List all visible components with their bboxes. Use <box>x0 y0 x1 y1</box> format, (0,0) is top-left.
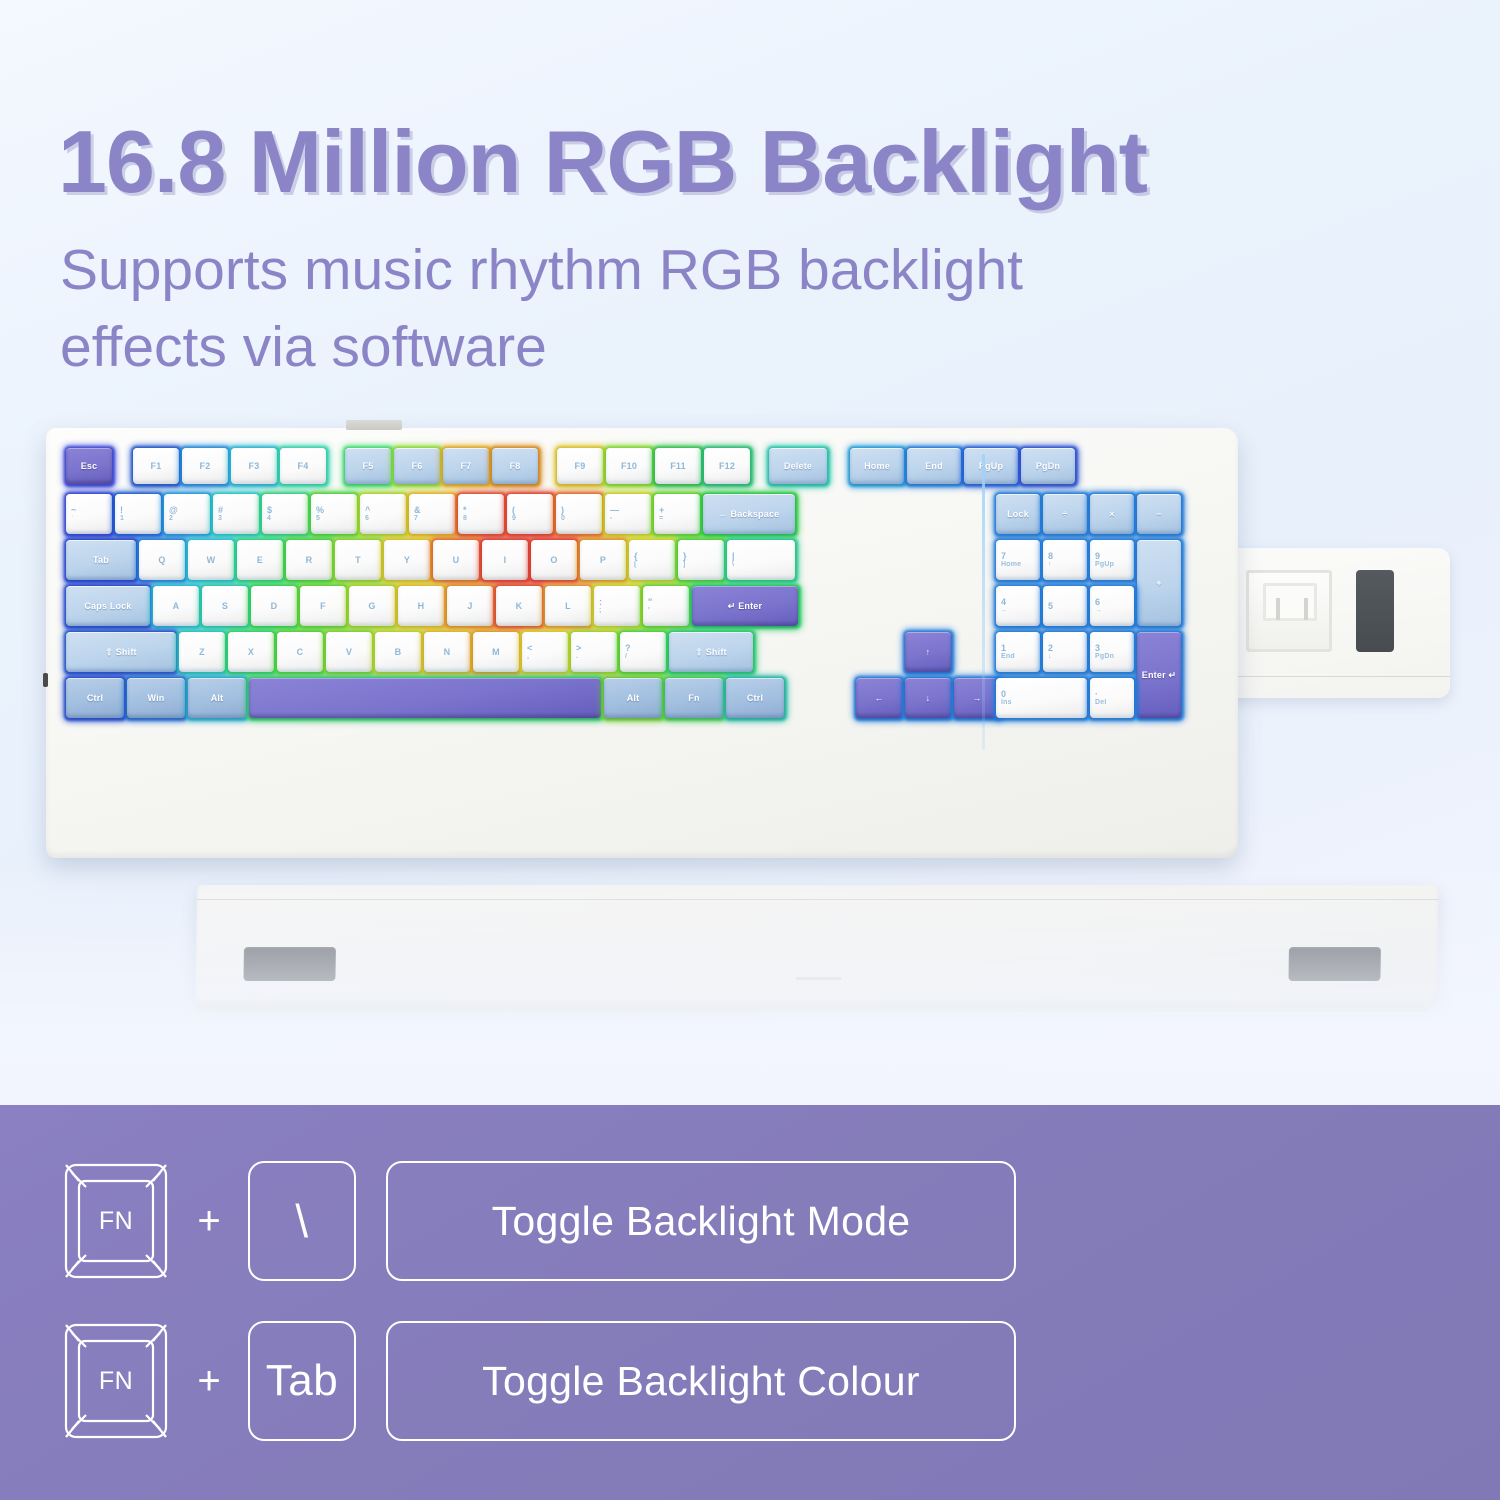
fn-keycap-icon-2: FN <box>62 1321 170 1441</box>
key-numpad-multiply[interactable]: × <box>1090 494 1134 534</box>
key-legend: I <box>504 555 507 565</box>
key-number-row-7[interactable]: &7 <box>409 494 455 534</box>
key-legend-top: } <box>683 551 687 561</box>
key-fn-row-8[interactable]: F8 <box>492 448 538 484</box>
key-legend: ← <box>874 693 883 703</box>
key-fn-row-0[interactable]: Esc <box>66 448 112 484</box>
key-legend-top: 7 <box>1001 551 1006 561</box>
key-bottom-row-2[interactable]: Alt <box>188 678 246 718</box>
key-fn-row-3[interactable]: F3 <box>231 448 277 484</box>
key-legend-top: 0 <box>1001 689 1006 699</box>
keyboard-light-strip <box>982 454 985 750</box>
key-legend-top: 5 <box>1048 601 1053 611</box>
key-home-row-2[interactable]: S <box>202 586 248 626</box>
key-qwerty-row-1[interactable]: Q <box>139 540 185 580</box>
key-qwerty-row-10[interactable]: P <box>580 540 626 580</box>
key-number-row-12[interactable]: += <box>654 494 700 534</box>
key-legend: F1 <box>151 461 162 471</box>
keycap-puller-inner <box>1263 583 1317 621</box>
key-arrow-down[interactable]: ↓ <box>905 678 951 718</box>
wrist-rest-foot-right <box>1288 947 1381 981</box>
keycap-puller-icon <box>1246 570 1332 652</box>
key-legend-bottom: 6 <box>365 515 369 523</box>
key-fn-row-15[interactable]: End <box>907 448 961 484</box>
key-legend-bottom: 3 <box>218 515 222 523</box>
key-shift-row-9[interactable]: >. <box>571 632 617 672</box>
key-home-row-12[interactable]: ↵ Enter <box>692 586 798 626</box>
key-legend: M <box>492 647 500 657</box>
key-legend-bottom: 9 <box>512 515 516 523</box>
accessory-rubber-pad <box>1356 570 1394 652</box>
fn-keycap-icon: FN <box>62 1161 170 1281</box>
fn-key-label-2: FN <box>62 1321 170 1441</box>
key-legend: E <box>257 555 263 565</box>
key-number-row-8[interactable]: *8 <box>458 494 504 534</box>
key-legend: Delete <box>784 461 812 471</box>
key-home-row-6[interactable]: H <box>398 586 444 626</box>
key-legend-bottom: Home <box>1001 561 1021 569</box>
key-home-row-1[interactable]: A <box>153 586 199 626</box>
key-number-row-3[interactable]: #3 <box>213 494 259 534</box>
key-legend-bottom: 7 <box>414 515 418 523</box>
key-legend: ↓ <box>926 693 931 703</box>
keyboard-side-port <box>43 673 48 687</box>
key-fn-row-11[interactable]: F11 <box>655 448 701 484</box>
key-home-row-7[interactable]: J <box>447 586 493 626</box>
key-legend-bottom: 0 <box>561 515 565 523</box>
key-numpad-9[interactable]: 9PgUp <box>1090 540 1134 580</box>
key-number-row-6[interactable]: ^6 <box>360 494 406 534</box>
key-legend-top: ! <box>120 505 123 515</box>
key-legend-bottom: Del <box>1095 699 1107 707</box>
key-number-row-13[interactable]: ← Backspace <box>703 494 795 534</box>
key-legend: ÷ <box>1062 509 1067 519</box>
key-legend: R <box>306 555 313 565</box>
key-legend-bottom: / <box>625 653 627 661</box>
key-numpad-5[interactable]: 5 <box>1043 586 1087 626</box>
key-legend: ↵ Enter <box>728 601 762 611</box>
wrist-rest <box>195 885 1439 1005</box>
key-legend-bottom: \ <box>732 561 734 569</box>
key-shift-row-11[interactable]: ⇧ Shift <box>669 632 753 672</box>
key-numpad-enter[interactable]: Enter ↵ <box>1137 632 1181 718</box>
key-arrow-left[interactable]: ← <box>856 678 902 718</box>
key-legend: F <box>320 601 326 611</box>
key-legend-top: ? <box>625 643 631 653</box>
wrist-rest-marking <box>795 977 841 980</box>
key-shift-row-5[interactable]: B <box>375 632 421 672</box>
key-legend-bottom: PgUp <box>1095 561 1114 569</box>
key-legend: H <box>418 601 425 611</box>
key-bottom-row-5[interactable]: Fn <box>665 678 723 718</box>
key-legend: Enter ↵ <box>1142 670 1176 680</box>
key-legend-bottom: 2 <box>169 515 173 523</box>
key-legend-top: # <box>218 505 223 515</box>
key-qwerty-row-6[interactable]: Y <box>384 540 430 580</box>
wrist-rest-foot-left <box>243 947 336 981</box>
shortcut-panel: FN + \ Toggle Backlight Mode FN + Tab To… <box>0 1105 1500 1500</box>
key-number-row-10[interactable]: )0 <box>556 494 602 534</box>
key-legend: F8 <box>510 461 521 471</box>
key-legend-bottom: 4 <box>267 515 271 523</box>
key-legend: Caps Lock <box>84 601 131 611</box>
key-home-row-0[interactable]: Caps Lock <box>66 586 150 626</box>
plus-sign-2: + <box>170 1359 248 1404</box>
key-legend: A <box>173 601 180 611</box>
key-legend: J <box>467 601 472 611</box>
keyboard-body: EscF1F2F3F4F5F6F7F8F9F10F11F12DeleteHome… <box>46 428 1238 858</box>
key-home-row-4[interactable]: F <box>300 586 346 626</box>
key-legend-top: 6 <box>1095 597 1100 607</box>
target-key-backslash: \ <box>248 1161 356 1281</box>
key-legend-bottom: 1 <box>120 515 124 523</box>
puller-prong-right <box>1304 598 1308 620</box>
key-legend: L <box>565 601 571 611</box>
key-arrow-up[interactable]: ↑ <box>905 632 951 672</box>
key-legend: F11 <box>670 461 686 471</box>
key-number-row-2[interactable]: @2 <box>164 494 210 534</box>
puller-prong-left <box>1276 598 1280 620</box>
key-legend: F7 <box>461 461 472 471</box>
key-home-row-10[interactable]: :; <box>594 586 640 626</box>
hero-section: 16.8 Million RGB Backlight Supports musi… <box>0 0 1500 1105</box>
target-key-tab: Tab <box>248 1321 356 1441</box>
key-legend: Home <box>864 461 890 471</box>
key-bottom-row-4[interactable]: Alt <box>604 678 662 718</box>
key-numpad-7[interactable]: 7Home <box>996 540 1040 580</box>
key-legend: ⇧ Shift <box>695 647 726 657</box>
key-legend: V <box>346 647 352 657</box>
key-legend: F3 <box>249 461 260 471</box>
key-number-row-5[interactable]: %5 <box>311 494 357 534</box>
key-number-row-0[interactable]: ~` <box>66 494 112 534</box>
key-legend-top: < <box>527 643 532 653</box>
key-fn-row-14[interactable]: Home <box>850 448 904 484</box>
key-shift-row-6[interactable]: N <box>424 632 470 672</box>
key-legend: End <box>925 461 943 471</box>
key-number-row-1[interactable]: !1 <box>115 494 161 534</box>
key-legend: Lock <box>1007 509 1029 519</box>
key-legend: F4 <box>298 461 309 471</box>
key-legend-bottom: ← <box>1001 607 1008 615</box>
key-legend-bottom: ↑ <box>1048 561 1052 569</box>
key-qwerty-row-2[interactable]: W <box>188 540 234 580</box>
key-fn-row-1[interactable]: F1 <box>133 448 179 484</box>
key-legend-bottom: ` <box>71 515 74 523</box>
key-numpad-8[interactable]: 8↑ <box>1043 540 1087 580</box>
key-numpad-3[interactable]: 3PgDn <box>1090 632 1134 672</box>
key-legend-top: 3 <box>1095 643 1100 653</box>
key-shift-row-1[interactable]: Z <box>179 632 225 672</box>
key-fn-row-10[interactable]: F10 <box>606 448 652 484</box>
key-numpad-minus[interactable]: − <box>1137 494 1181 534</box>
key-legend: F9 <box>575 461 586 471</box>
key-legend-bottom: 5 <box>316 515 320 523</box>
key-qwerty-row-12[interactable]: }] <box>678 540 724 580</box>
key-legend: − <box>1156 509 1161 519</box>
key-fn-row-17[interactable]: PgDn <box>1021 448 1075 484</box>
key-legend: ⇧ Shift <box>105 647 136 657</box>
fn-key-label: FN <box>62 1161 170 1281</box>
key-legend-top: & <box>414 505 421 515</box>
key-fn-row-5[interactable]: F5 <box>345 448 391 484</box>
key-legend: W <box>207 555 216 565</box>
wrist-rest-seam <box>197 899 1439 900</box>
key-legend: PgDn <box>1036 461 1060 471</box>
key-legend: D <box>271 601 278 611</box>
key-legend-top: · <box>1095 689 1098 699</box>
key-numpad-4[interactable]: 4← <box>996 586 1040 626</box>
key-bottom-row-6[interactable]: Ctrl <box>726 678 784 718</box>
key-legend: C <box>297 647 304 657</box>
key-legend: Fn <box>688 693 699 703</box>
key-legend-bottom: = <box>659 515 663 523</box>
key-legend: → <box>972 693 981 703</box>
key-legend-bottom: , <box>527 653 529 661</box>
key-legend: Y <box>404 555 410 565</box>
accessory-tray-seam <box>1228 676 1450 677</box>
key-fn-row-12[interactable]: F12 <box>704 448 750 484</box>
key-legend-top: ^ <box>365 505 370 515</box>
key-legend: ↑ <box>926 647 931 657</box>
key-numpad-lock[interactable]: Lock <box>996 494 1040 534</box>
shortcut-row-backlight-mode: FN + \ Toggle Backlight Mode <box>62 1167 1016 1275</box>
key-legend: X <box>248 647 254 657</box>
key-legend: + <box>1156 578 1161 588</box>
key-qwerty-row-7[interactable]: U <box>433 540 479 580</box>
key-legend: T <box>355 555 361 565</box>
key-legend: Alt <box>211 693 224 703</box>
key-fn-row-16[interactable]: PgUp <box>964 448 1018 484</box>
key-legend: F12 <box>719 461 735 471</box>
key-legend: S <box>222 601 228 611</box>
key-home-row-11[interactable]: "' <box>643 586 689 626</box>
key-fn-row-9[interactable]: F9 <box>557 448 603 484</box>
key-legend-top: 1 <box>1001 643 1006 653</box>
key-legend-top: 9 <box>1095 551 1100 561</box>
key-shift-row-4[interactable]: V <box>326 632 372 672</box>
key-legend-top: @ <box>169 505 178 515</box>
plus-sign-1: + <box>170 1199 248 1244</box>
key-fn-row-13[interactable]: Delete <box>769 448 827 484</box>
key-shift-row-2[interactable]: X <box>228 632 274 672</box>
key-legend-top: { <box>634 551 638 561</box>
key-legend: Z <box>199 647 205 657</box>
key-legend: F2 <box>200 461 211 471</box>
key-legend-bottom: End <box>1001 653 1015 661</box>
key-legend: U <box>453 555 460 565</box>
key-legend-bottom: - <box>610 515 613 523</box>
key-legend: B <box>395 647 402 657</box>
key-legend-top: — <box>610 505 619 515</box>
key-legend-top: $ <box>267 505 272 515</box>
shortcut-row-backlight-colour: FN + Tab Toggle Backlight Colour <box>62 1327 1016 1435</box>
key-legend: O <box>550 555 557 565</box>
shortcut-description-backlight-colour: Toggle Backlight Colour <box>386 1321 1016 1441</box>
key-legend: Ctrl <box>87 693 103 703</box>
key-legend: P <box>600 555 606 565</box>
key-shift-row-10[interactable]: ?/ <box>620 632 666 672</box>
key-fn-row-4[interactable]: F4 <box>280 448 326 484</box>
key-legend: Win <box>147 693 164 703</box>
key-numpad-2[interactable]: 2↓ <box>1043 632 1087 672</box>
key-legend-bottom: 8 <box>463 515 467 523</box>
key-legend-top: > <box>576 643 581 653</box>
key-number-row-11[interactable]: —- <box>605 494 651 534</box>
key-legend-bottom: ↓ <box>1048 653 1052 661</box>
keyboard-key-plate: EscF1F2F3F4F5F6F7F8F9F10F11F12DeleteHome… <box>66 448 1216 838</box>
key-legend-top: : <box>599 597 602 607</box>
key-legend-bottom: . <box>576 653 578 661</box>
key-qwerty-row-9[interactable]: O <box>531 540 577 580</box>
key-legend-top: | <box>732 551 735 561</box>
key-shift-row-0[interactable]: ⇧ Shift <box>66 632 176 672</box>
key-numpad-0[interactable]: 0Ins <box>996 678 1087 718</box>
key-legend-bottom: ; <box>599 607 602 615</box>
key-legend-top: 8 <box>1048 551 1053 561</box>
key-shift-row-8[interactable]: <, <box>522 632 568 672</box>
key-home-row-3[interactable]: D <box>251 586 297 626</box>
page-title: 16.8 Million RGB Backlight <box>58 118 1458 206</box>
key-legend: Ctrl <box>747 693 763 703</box>
key-bottom-row-0[interactable]: Ctrl <box>66 678 124 718</box>
key-qwerty-row-4[interactable]: R <box>286 540 332 580</box>
key-numpad-divide[interactable]: ÷ <box>1043 494 1087 534</box>
key-legend-top: ~ <box>71 505 76 515</box>
key-qwerty-row-11[interactable]: {[ <box>629 540 675 580</box>
key-legend: × <box>1109 509 1114 519</box>
key-legend: N <box>444 647 451 657</box>
key-legend-top: 2 <box>1048 643 1053 653</box>
key-qwerty-row-5[interactable]: T <box>335 540 381 580</box>
key-legend: F5 <box>363 461 374 471</box>
key-legend-bottom: Ins <box>1001 699 1012 707</box>
subtitle-line-1: Supports music rhythm RGB backlight <box>60 232 1320 309</box>
shortcut-description-backlight-mode: Toggle Backlight Mode <box>386 1161 1016 1281</box>
key-legend-top: " <box>648 597 652 607</box>
key-legend-bottom: ' <box>648 607 650 615</box>
key-legend-top: 4 <box>1001 597 1006 607</box>
key-qwerty-row-3[interactable]: E <box>237 540 283 580</box>
key-numpad-decimal[interactable]: ·Del <box>1090 678 1134 718</box>
key-legend: Tab <box>93 555 109 565</box>
key-fn-row-2[interactable]: F2 <box>182 448 228 484</box>
accessory-tray <box>1228 548 1450 698</box>
key-shift-row-3[interactable]: C <box>277 632 323 672</box>
key-bottom-row-1[interactable]: Win <box>127 678 185 718</box>
key-legend: F6 <box>412 461 423 471</box>
key-number-row-9[interactable]: (9 <box>507 494 553 534</box>
key-legend-top: + <box>659 505 664 515</box>
key-legend: ← Backspace <box>719 509 780 519</box>
key-home-row-8[interactable]: K <box>496 586 542 626</box>
keyboard-top-connector <box>346 420 402 430</box>
key-legend: Esc <box>81 461 98 471</box>
key-legend-bottom: → <box>1095 607 1102 615</box>
key-qwerty-row-0[interactable]: Tab <box>66 540 136 580</box>
key-fn-row-6[interactable]: F6 <box>394 448 440 484</box>
page-subtitle: Supports music rhythm RGB backlight effe… <box>60 232 1320 386</box>
key-home-row-5[interactable]: G <box>349 586 395 626</box>
key-fn-row-7[interactable]: F7 <box>443 448 489 484</box>
key-legend-bottom: [ <box>634 561 637 569</box>
key-legend-top: ) <box>561 505 564 515</box>
keyboard-product-image: EscF1F2F3F4F5F6F7F8F9F10F11F12DeleteHome… <box>0 400 1500 1040</box>
key-legend: Q <box>158 555 165 565</box>
key-legend: F10 <box>621 461 637 471</box>
key-legend-top: % <box>316 505 324 515</box>
key-number-row-4[interactable]: $4 <box>262 494 308 534</box>
key-qwerty-row-13[interactable]: |\ <box>727 540 795 580</box>
key-legend-bottom: ] <box>683 561 686 569</box>
subtitle-line-2: effects via software <box>60 309 1320 386</box>
key-shift-row-7[interactable]: M <box>473 632 519 672</box>
key-legend: Alt <box>627 693 640 703</box>
key-legend-top: ( <box>512 505 515 515</box>
key-numpad-1[interactable]: 1End <box>996 632 1040 672</box>
key-home-row-9[interactable]: L <box>545 586 591 626</box>
key-qwerty-row-8[interactable]: I <box>482 540 528 580</box>
key-numpad-plus[interactable]: + <box>1137 540 1181 626</box>
key-legend-top: * <box>463 505 467 515</box>
key-numpad-6[interactable]: 6→ <box>1090 586 1134 626</box>
key-legend-bottom: PgDn <box>1095 653 1114 661</box>
key-legend: K <box>516 601 523 611</box>
key-legend: G <box>368 601 375 611</box>
key-bottom-row-3[interactable] <box>249 678 601 718</box>
